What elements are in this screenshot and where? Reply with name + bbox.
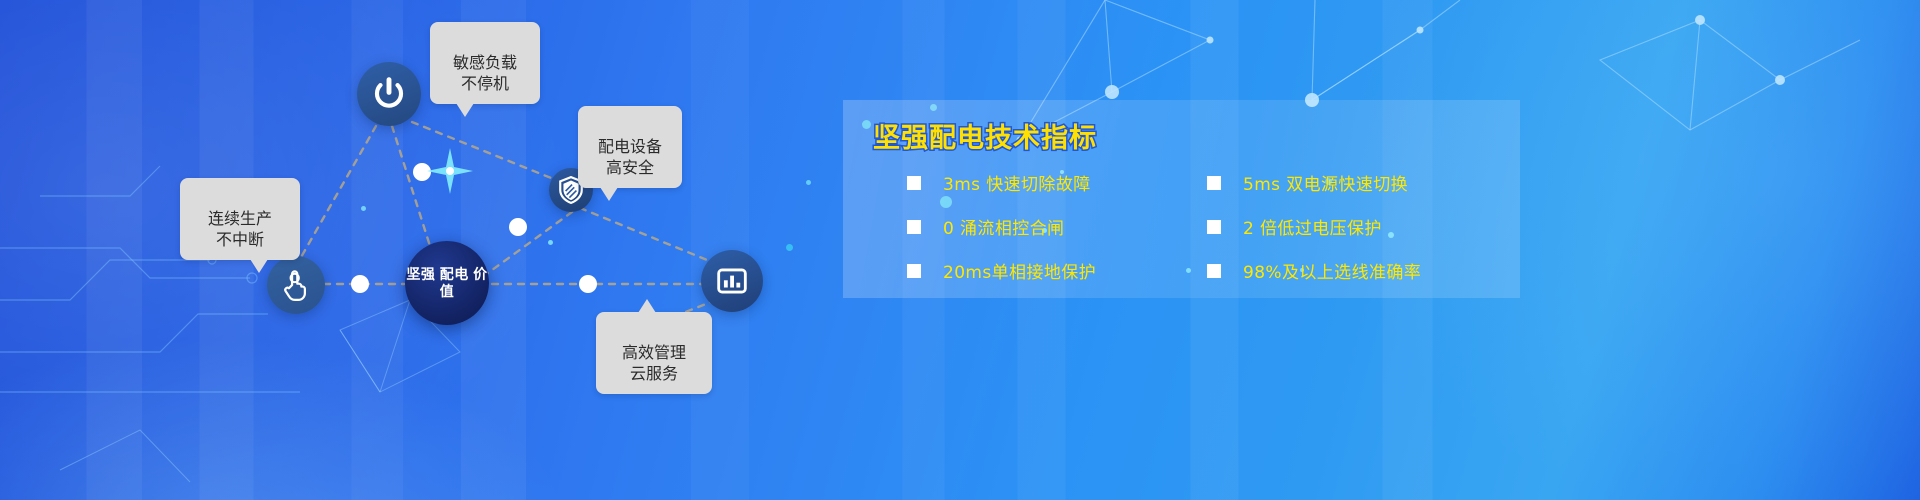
- spec-item: 98%及以上选线准确率: [1207, 258, 1507, 283]
- bullet-square-icon: [1207, 176, 1221, 190]
- decor-dot: [361, 206, 366, 211]
- touch-hand-node[interactable]: [267, 256, 325, 314]
- bullet-square-icon: [1207, 220, 1221, 234]
- callout-sensitive-load[interactable]: 敏感负载 不停机: [430, 22, 540, 104]
- callout-continuous-production[interactable]: 连续生产 不中断: [180, 178, 300, 260]
- spec-item: 20ms单相接地保护: [907, 258, 1207, 283]
- power-node[interactable]: [357, 62, 421, 126]
- spec-label: 2 倍低过电压保护: [1243, 214, 1382, 239]
- background-glow-left: [0, 0, 640, 500]
- callout-distribution-safety-label: 配电设备 高安全: [598, 137, 662, 176]
- banner-stage: 坚强 配电 价值 敏感负载 不停机 配电设备 高安全 连续生产 不中断 高效管理…: [0, 0, 1920, 500]
- bar-chart-icon: [715, 264, 749, 298]
- spec-item: 0 涌流相控合闸: [907, 214, 1207, 239]
- specs-panel-title: 坚强配电技术指标: [873, 116, 1097, 155]
- spec-label: 5ms 双电源快速切换: [1243, 170, 1408, 195]
- bullet-square-icon: [907, 220, 921, 234]
- decor-dot: [806, 180, 811, 185]
- decor-dot: [786, 244, 793, 251]
- spec-item: 2 倍低过电压保护: [1207, 214, 1507, 239]
- bullet-square-icon: [907, 264, 921, 278]
- bullet-square-icon: [907, 176, 921, 190]
- specs-panel: 坚强配电技术指标 3ms 快速切除故障 5ms 双电源快速切换 0 涌流相控合闸…: [843, 100, 1520, 298]
- power-icon: [370, 75, 408, 113]
- spec-label: 20ms单相接地保护: [943, 258, 1096, 283]
- callout-distribution-safety[interactable]: 配电设备 高安全: [578, 106, 682, 188]
- callout-continuous-production-label: 连续生产 不中断: [208, 209, 272, 248]
- callout-cloud-management[interactable]: 高效管理 云服务: [596, 312, 712, 394]
- bullet-square-icon: [1207, 264, 1221, 278]
- spec-label: 0 涌流相控合闸: [943, 214, 1064, 239]
- callout-sensitive-load-label: 敏感负载 不停机: [453, 53, 517, 92]
- background-glow-bottom: [0, 310, 620, 500]
- decor-dot: [548, 240, 553, 245]
- spec-label: 98%及以上选线准确率: [1243, 258, 1421, 283]
- center-value-node[interactable]: 坚强 配电 价值: [405, 241, 489, 325]
- spec-item: 3ms 快速切除故障: [907, 170, 1207, 195]
- specs-list: 3ms 快速切除故障 5ms 双电源快速切换 0 涌流相控合闸 2 倍低过电压保…: [907, 170, 1510, 283]
- center-value-label: 坚强 配电 价值: [405, 266, 489, 299]
- bar-chart-node[interactable]: [701, 250, 763, 312]
- sparkle-icon: [427, 148, 473, 194]
- callout-cloud-management-label: 高效管理 云服务: [622, 343, 686, 382]
- spec-label: 3ms 快速切除故障: [943, 170, 1091, 195]
- spec-item: 5ms 双电源快速切换: [1207, 170, 1507, 195]
- touch-hand-icon: [280, 268, 312, 302]
